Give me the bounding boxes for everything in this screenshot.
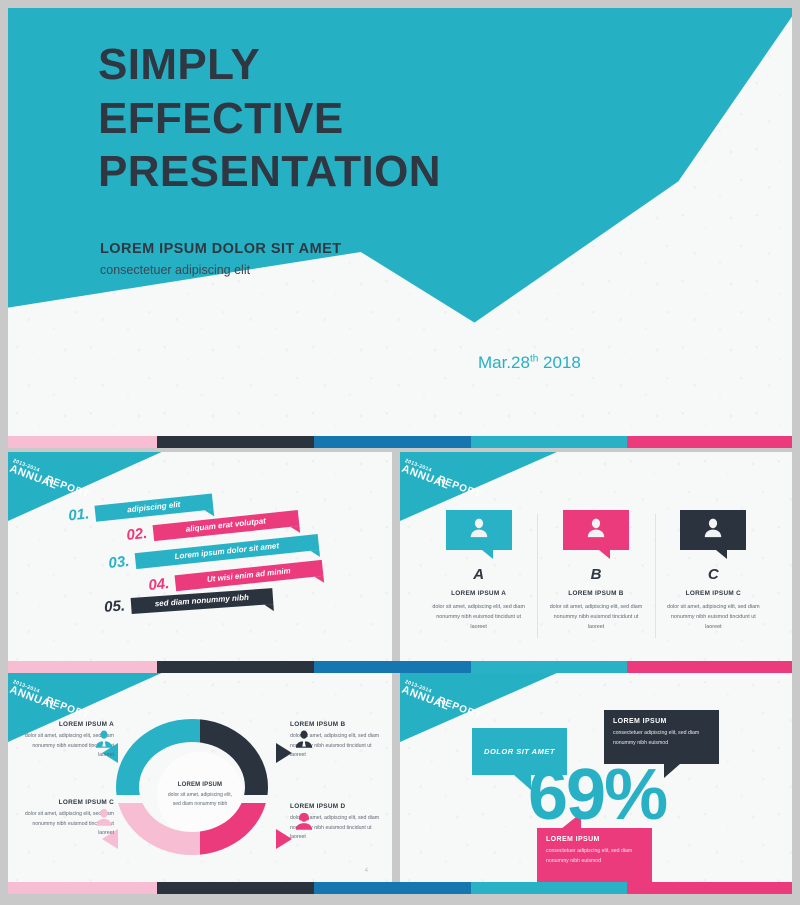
- person-icon: [702, 517, 724, 544]
- list-item-bar: adipiscing elit: [94, 493, 213, 521]
- dark-bubble-title: LOREM IPSUM: [613, 718, 710, 725]
- ribbon-annual: ANNUAL: [400, 463, 451, 492]
- list-item-number: 04.: [148, 575, 171, 594]
- cover-subtitle: LOREM IPSUM DOLOR SIT AMET: [100, 241, 342, 257]
- list-item-number: 01.: [68, 505, 91, 524]
- ribbon-report: REPORT: [436, 474, 483, 501]
- presentation-template-page: SIMPLY EFFECTIVE PRESENTATION LOREM IPSU…: [0, 0, 800, 905]
- slide-percentage[interactable]: 2013-2014 ANNUAL REPORT DOLOR SIT AMET L…: [400, 673, 792, 882]
- profile-body: dolor sit amet, adipiscing elit, sed dia…: [428, 602, 529, 632]
- cover-caption: consectetuer adipiscing elit: [100, 263, 250, 277]
- person-icon: [468, 517, 490, 544]
- strip-segment-teal: [471, 661, 628, 673]
- donut-segment-top-right[interactable]: [200, 719, 284, 795]
- ribbon-year: 2013-2014: [404, 458, 453, 482]
- person-woman-icon: [294, 811, 314, 836]
- slide-three-profiles[interactable]: 2013-2014 ANNUAL REPORT ALOREM IPSUM Ado…: [400, 452, 792, 661]
- profile-avatar-bubble: [680, 510, 746, 550]
- strip-segment-pink: [627, 882, 792, 894]
- profile-column[interactable]: BLOREM IPSUM Bdolor sit amet, adipiscing…: [537, 510, 654, 632]
- profile-letter: B: [545, 566, 646, 583]
- donut-label-title: LOREM IPSUM D: [290, 803, 384, 810]
- pink-bubble-title: LOREM IPSUM: [546, 836, 643, 843]
- strip-segment-dark: [157, 882, 314, 894]
- ribbon-annual: ANNUAL: [8, 684, 59, 713]
- strip-segment-deep-blue: [314, 882, 471, 894]
- donut-chart[interactable]: LOREM IPSUM dolor sit amet, adipiscing e…: [116, 719, 284, 871]
- cover-title: SIMPLY EFFECTIVE PRESENTATION: [98, 38, 658, 199]
- cover-date: Mar.28th 2018: [478, 353, 581, 373]
- person-tie-icon: [294, 729, 314, 754]
- list-item-number: 02.: [126, 525, 149, 544]
- profile-letter: A: [428, 566, 529, 583]
- strip-segment-pink: [627, 661, 792, 673]
- strip-segment-teal: [471, 882, 628, 894]
- slide-donut-chart[interactable]: 2013-2014 ANNUAL REPORT LOREM IPSUM dolo…: [8, 673, 392, 882]
- profile-letter: C: [663, 566, 764, 583]
- strip-segment-pink: [627, 436, 792, 448]
- person-icon: [94, 807, 114, 832]
- ribbon-text: 2013-2014 ANNUAL: [400, 679, 453, 713]
- profile-avatar-bubble: [446, 510, 512, 550]
- donut-label-title: LOREM IPSUM B: [290, 721, 384, 728]
- strip-segment-deep-blue: [314, 661, 471, 673]
- ribbon-text: 2013-2014 ANNUAL: [400, 458, 453, 492]
- page-number: 4: [365, 868, 368, 874]
- profile-title: LOREM IPSUM C: [663, 590, 764, 597]
- list-item-label: Lorem ipsum dolor sit amet: [164, 540, 289, 562]
- ribbon-year: 2013-2014: [404, 679, 453, 703]
- donut-label-title: LOREM IPSUM C: [20, 799, 114, 806]
- list-item-label: sed diam nonummy nibh: [145, 592, 260, 609]
- profile-column[interactable]: ALOREM IPSUM Adolor sit amet, adipiscing…: [420, 510, 537, 632]
- color-strip-top: [8, 436, 792, 448]
- strip-segment-light-pink: [8, 661, 157, 673]
- ribbon-annual: ANNUAL: [400, 684, 451, 713]
- strip-segment-light-pink: [8, 882, 157, 894]
- cover-date-main: Mar.28: [478, 353, 530, 372]
- list-item[interactable]: 05.sed diam nonummy nibh: [104, 587, 274, 616]
- profile-columns: ALOREM IPSUM Adolor sit amet, adipiscing…: [420, 510, 772, 632]
- list-item-bar: Ut wisi enim ad minim: [174, 559, 323, 590]
- cover-title-line-1: SIMPLY: [98, 38, 658, 92]
- cover-title-line-3: PRESENTATION: [98, 145, 658, 199]
- person-icon: [585, 517, 607, 544]
- cover-title-line-2: EFFECTIVE: [98, 92, 658, 146]
- pink-bubble-body: consectetuer adipiscing elit, sed diam n…: [546, 847, 643, 867]
- person-tie-icon: [94, 729, 114, 754]
- profile-column[interactable]: CLOREM IPSUM Cdolor sit amet, adipiscing…: [655, 510, 772, 632]
- list-item-label: Ut wisi enim ad minim: [197, 565, 301, 585]
- profile-body: dolor sit amet, adipiscing elit, sed dia…: [663, 602, 764, 632]
- list-item-label: aliquam erat volutpat: [175, 515, 276, 534]
- slide-numbered-list[interactable]: 2013-2014 ANNUAL REPORT 01.adipiscing el…: [8, 452, 392, 661]
- color-strip-bottom: [8, 882, 792, 894]
- list-item-label: adipiscing elit: [117, 499, 191, 516]
- strip-segment-teal: [471, 436, 628, 448]
- cover-date-year: 2018: [538, 353, 581, 372]
- ribbon-report: REPORT: [44, 695, 91, 722]
- list-item-number: 03.: [108, 553, 131, 572]
- strip-segment-deep-blue: [314, 436, 471, 448]
- donut-segment-top-left[interactable]: [116, 719, 200, 795]
- donut-segment-bottom-right[interactable]: [200, 803, 284, 879]
- ribbon-report: REPORT: [436, 695, 483, 722]
- profile-title: LOREM IPSUM B: [545, 590, 646, 597]
- ribbon-year: 2013-2014: [12, 679, 61, 703]
- strip-segment-light-pink: [8, 436, 157, 448]
- list-item-bar: aliquam erat volutpat: [152, 510, 299, 541]
- dark-bubble-body: consectetuer adipiscing elit, sed diam n…: [613, 729, 710, 749]
- profile-body: dolor sit amet, adipiscing elit, sed dia…: [545, 602, 646, 632]
- strip-segment-dark: [157, 436, 314, 448]
- profile-avatar-bubble: [563, 510, 629, 550]
- donut-label-title: LOREM IPSUM A: [20, 721, 114, 728]
- ribbon-text: 2013-2014 ANNUAL: [8, 679, 61, 713]
- slide-cover[interactable]: SIMPLY EFFECTIVE PRESENTATION LOREM IPSU…: [8, 8, 792, 436]
- profile-title: LOREM IPSUM A: [428, 590, 529, 597]
- color-strip-middle: [8, 661, 792, 673]
- numbered-list: 01.adipiscing elit02.aliquam erat volutp…: [8, 452, 392, 661]
- pink-callout-bubble[interactable]: LOREM IPSUM consectetuer adipiscing elit…: [537, 828, 652, 882]
- bubble-tail: [664, 764, 680, 778]
- donut-segment-bottom-left[interactable]: [116, 803, 200, 879]
- strip-segment-dark: [157, 661, 314, 673]
- big-percentage: 69%: [528, 759, 666, 831]
- list-item-number: 05.: [104, 597, 126, 615]
